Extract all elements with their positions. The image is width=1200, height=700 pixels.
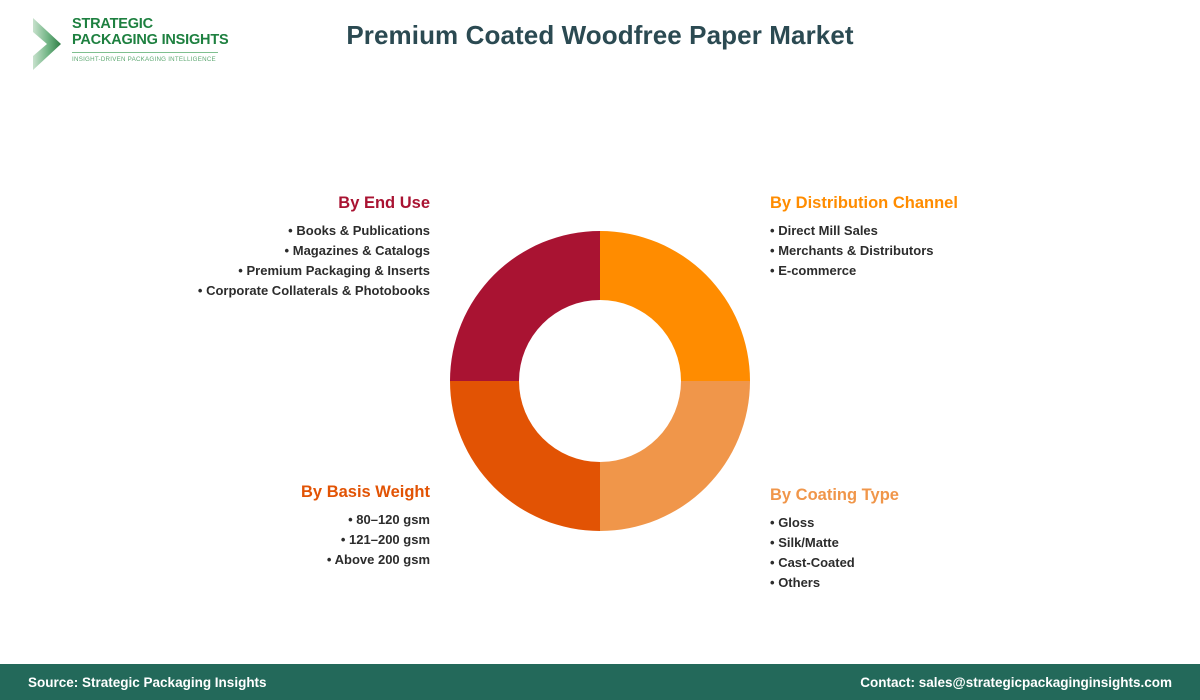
list-item: • Gloss [770,513,1170,533]
footer-bar: Source: Strategic Packaging Insights Con… [0,664,1200,700]
segment-list-distribution-channel: • Direct Mill Sales • Merchants & Distri… [770,221,1170,281]
bullet-icon: • [770,555,775,570]
list-item-label: Merchants & Distributors [778,243,933,258]
page-title: Premium Coated Woodfree Paper Market [0,20,1200,51]
segment-block-distribution-channel: By Distribution Channel • Direct Mill Sa… [770,193,1170,281]
segment-block-end-use: By End Use • Books & Publications • Maga… [80,193,430,301]
footer-source: Source: Strategic Packaging Insights [28,675,267,690]
bullet-icon: • [327,552,332,567]
segment-block-coating-type: By Coating Type • Gloss • Silk/Matte • C… [770,485,1170,593]
list-item: • Merchants & Distributors [770,241,1170,261]
bullet-icon: • [770,243,775,258]
list-item: • Corporate Collaterals & Photobooks [80,281,430,301]
bullet-icon: • [288,223,293,238]
list-item: • Silk/Matte [770,533,1170,553]
list-item-label: E-commerce [778,263,856,278]
list-item: • Others [770,573,1170,593]
donut-segment-end-use [450,231,600,381]
list-item-label: 121–200 gsm [349,532,430,547]
list-item-label: Gloss [778,515,814,530]
list-item: • 80–120 gsm [80,510,430,530]
donut-segment-distribution-channel [600,231,750,381]
segment-title-basis-weight: By Basis Weight [80,482,430,502]
list-item-label: Above 200 gsm [335,552,430,567]
segment-title-coating-type: By Coating Type [770,485,1170,505]
bullet-icon: • [348,512,353,527]
logo-divider [72,52,218,53]
list-item-label: 80–120 gsm [356,512,430,527]
donut-chart [450,231,750,531]
list-item-label: Books & Publications [296,223,430,238]
list-item: • Premium Packaging & Inserts [80,261,430,281]
segment-list-coating-type: • Gloss • Silk/Matte • Cast-Coated • Oth… [770,513,1170,593]
bullet-icon: • [198,283,203,298]
bullet-icon: • [770,575,775,590]
segment-title-end-use: By End Use [80,193,430,213]
segment-title-distribution-channel: By Distribution Channel [770,193,1170,213]
bullet-icon: • [770,263,775,278]
list-item-label: Cast-Coated [778,555,855,570]
list-item: • Cast-Coated [770,553,1170,573]
list-item-label: Magazines & Catalogs [293,243,430,258]
bullet-icon: • [238,263,243,278]
list-item: • E-commerce [770,261,1170,281]
list-item: • Books & Publications [80,221,430,241]
header: STRATEGIC PACKAGING INSIGHTS INSIGHT-DRI… [0,0,1200,90]
list-item-label: Silk/Matte [778,535,839,550]
list-item: • Direct Mill Sales [770,221,1170,241]
list-item: • Above 200 gsm [80,550,430,570]
list-item: • Magazines & Catalogs [80,241,430,261]
bullet-icon: • [770,515,775,530]
bullet-icon: • [285,243,290,258]
donut-segment-basis-weight [450,381,600,531]
bullet-icon: • [341,532,346,547]
segment-block-basis-weight: By Basis Weight • 80–120 gsm • 121–200 g… [80,482,430,570]
list-item-label: Premium Packaging & Inserts [246,263,430,278]
bullet-icon: • [770,535,775,550]
list-item: • 121–200 gsm [80,530,430,550]
list-item-label: Others [778,575,820,590]
bullet-icon: • [770,223,775,238]
donut-segment-coating-type [600,381,750,531]
logo-tagline: INSIGHT-DRIVEN PACKAGING INTELLIGENCE [72,56,222,63]
segment-list-end-use: • Books & Publications • Magazines & Cat… [80,221,430,301]
segment-list-basis-weight: • 80–120 gsm • 121–200 gsm • Above 200 g… [80,510,430,570]
footer-contact[interactable]: Contact: sales@strategicpackaginginsight… [860,675,1172,690]
list-item-label: Corporate Collaterals & Photobooks [206,283,430,298]
list-item-label: Direct Mill Sales [778,223,878,238]
